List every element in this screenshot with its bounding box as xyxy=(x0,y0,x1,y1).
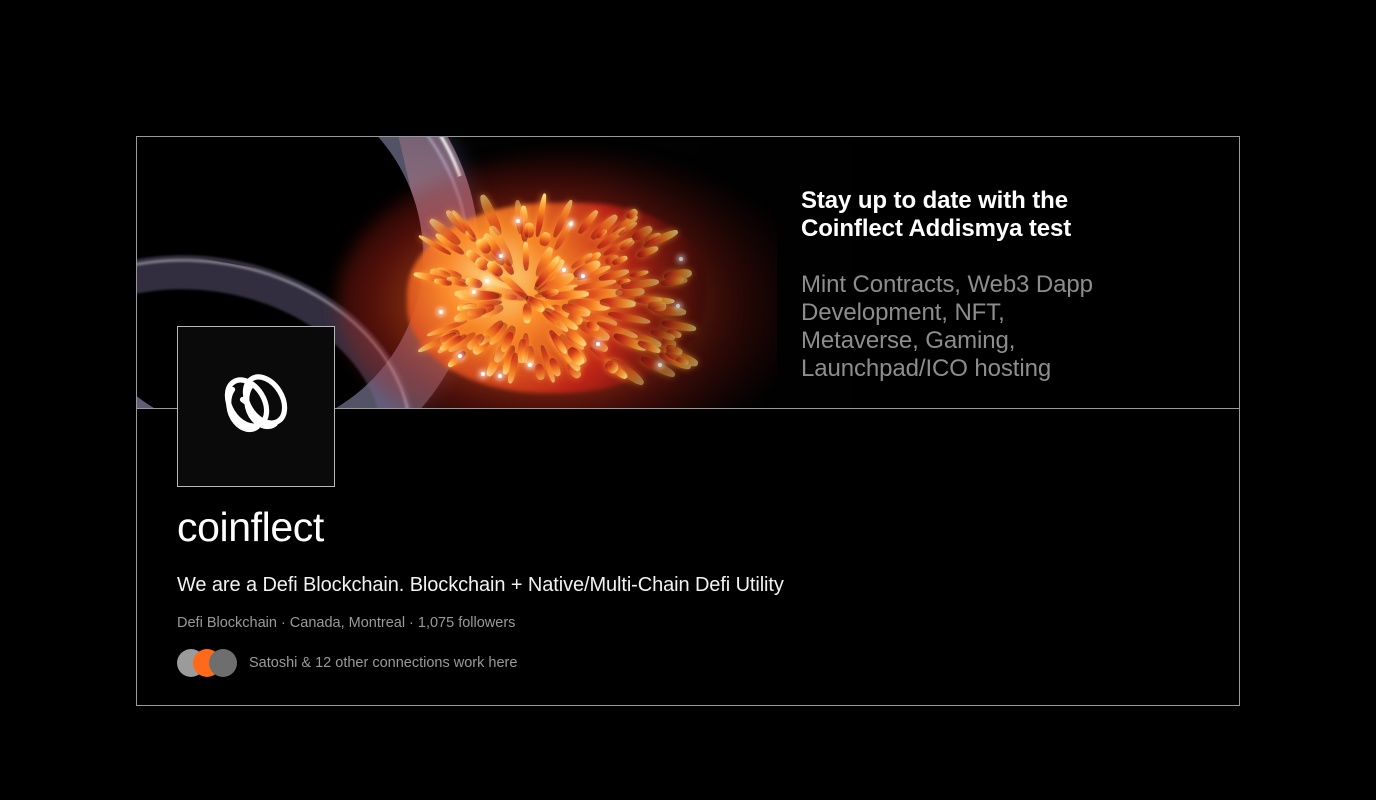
banner-headline: Stay up to date with the Coinflect Addis… xyxy=(801,187,1201,243)
connections-facepile xyxy=(177,649,241,677)
specular-sparkle xyxy=(658,363,662,367)
crystal-rod xyxy=(629,270,649,279)
specular-sparkle xyxy=(485,279,489,283)
specular-sparkle xyxy=(679,257,683,261)
coinflect-coins-logo-icon xyxy=(208,359,304,455)
crystal-rod xyxy=(534,364,545,381)
specular-sparkle xyxy=(596,342,600,346)
specular-sparkle xyxy=(528,363,532,367)
meta-followers[interactable]: 1,075 followers xyxy=(418,615,516,631)
connections-row[interactable]: Satoshi & 12 other connections work here xyxy=(177,649,1157,677)
meta-industry: Defi Blockchain xyxy=(177,615,277,631)
crystal-rod xyxy=(535,193,548,237)
company-meta: Defi Blockchain·Canada, Montreal·1,075 f… xyxy=(177,613,1157,633)
crystal-rod xyxy=(634,296,662,302)
specular-sparkle xyxy=(676,304,680,308)
company-profile-card: Stay up to date with the Coinflect Addis… xyxy=(136,136,1240,706)
page-root: Stay up to date with the Coinflect Addis… xyxy=(0,0,1376,800)
meta-separator-1: · xyxy=(277,615,290,631)
specular-sparkle xyxy=(498,374,502,378)
connections-label[interactable]: Satoshi & 12 other connections work here xyxy=(249,653,517,673)
meta-location: Canada, Montreal xyxy=(290,615,405,631)
company-name: coinflect xyxy=(177,504,1157,550)
crystal-rod xyxy=(524,222,534,237)
specular-sparkle xyxy=(569,222,573,226)
company-tagline: We are a Defi Blockchain. Blockchain + N… xyxy=(177,572,1157,598)
crystal-rod xyxy=(465,276,484,289)
company-logo-tile[interactable] xyxy=(177,326,335,487)
company-card-body: coinflect We are a Defi Blockchain. Bloc… xyxy=(137,409,1239,706)
burst-spikes xyxy=(377,183,777,408)
banner-copy: Stay up to date with the Coinflect Addis… xyxy=(801,187,1201,383)
specular-sparkle xyxy=(516,219,520,223)
meta-separator-2: · xyxy=(405,615,418,631)
crystal-rod xyxy=(636,245,659,260)
avatar-3 xyxy=(209,649,237,677)
banner-subheadline: Mint Contracts, Web3 Dapp Development, N… xyxy=(801,271,1201,383)
crystal-rod xyxy=(523,241,530,270)
specular-sparkle xyxy=(481,372,485,376)
specular-sparkle xyxy=(581,274,585,278)
company-info: coinflect We are a Defi Blockchain. Bloc… xyxy=(177,504,1157,677)
specular-sparkle xyxy=(562,268,566,272)
specular-sparkle xyxy=(439,310,443,314)
crystal-burst xyxy=(377,183,777,408)
